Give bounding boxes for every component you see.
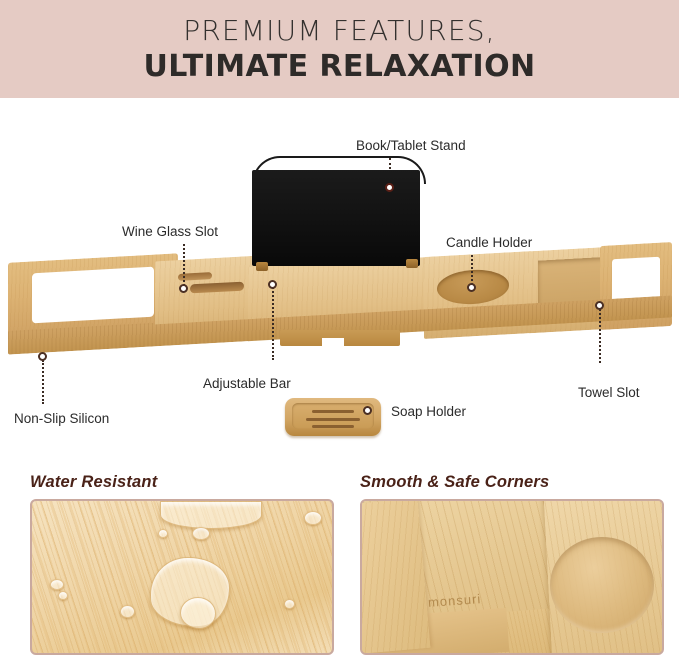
header-line-2: ULTIMATE RELAXATION [143,50,535,84]
header-banner: PREMIUM FEATURES, ULTIMATE RELAXATION [0,0,679,98]
water-droplet-1 [192,527,210,540]
tablet-stand-board [252,170,420,266]
candle-recess-photo [550,537,654,633]
soap-holder-groove-3 [312,425,354,428]
callout-leader-wine-glass-slot [183,244,185,286]
water-puddle-top [160,501,262,529]
left-arm-opening [32,267,154,324]
tablet-stand-foot-left [256,262,268,271]
callout-label-adjustable-bar: Adjustable Bar [203,376,291,391]
callout-dot-towel-slot [595,301,604,310]
water-droplet-6 [284,599,295,609]
soap-holder-groove-1 [312,410,354,413]
callout-leader-adjustable-bar [272,284,274,360]
panel-water-resistant: Water Resistant [22,463,340,662]
water-droplet-4 [50,579,64,590]
bathtub-tray-illustration [0,98,679,463]
callout-dot-soap-holder [363,406,372,415]
callout-label-wine-glass-slot: Wine Glass Slot [122,224,218,239]
callout-label-soap-holder: Soap Holder [391,404,466,419]
feature-panels: Water Resistant Smooth & Safe Corners mo… [0,463,679,662]
water-droplet-3 [120,605,135,618]
panel-heading-smooth-safe-corners: Smooth & Safe Corners [360,473,549,492]
product-diagram: Book/Tablet Stand Wine Glass Slot Candle… [0,98,679,463]
panel-heading-water-resistant: Water Resistant [30,473,157,492]
water-droplet-5 [58,591,68,600]
tablet-stand-foot-right [406,259,418,268]
callout-dot-book-tablet-stand [385,183,394,192]
callout-leader-towel-slot [599,309,601,363]
callout-dot-candle-holder [467,283,476,292]
callout-label-candle-holder: Candle Holder [446,235,532,250]
soap-holder-groove-2 [306,418,360,421]
callout-dot-non-slip-silicon [38,352,47,361]
header-line-1: PREMIUM FEATURES, [183,15,496,46]
water-droplet-7 [304,511,322,525]
adjustable-bar-notch [322,338,344,348]
callout-dot-wine-glass-slot [179,284,188,293]
water-droplet-2 [158,529,168,538]
panel-smooth-safe-corners: Smooth & Safe Corners monsuri [352,463,670,662]
callout-label-non-slip-silicon: Non-Slip Silicon [14,411,109,426]
water-puddle-small [180,597,216,629]
callout-leader-non-slip-silicon [42,360,44,404]
photo-water-resistant [30,499,334,655]
callout-leader-candle-holder [471,255,473,285]
callout-dot-adjustable-bar [268,280,277,289]
callout-label-towel-slot: Towel Slot [578,385,640,400]
callout-label-book-tablet-stand: Book/Tablet Stand [356,138,466,153]
photo-smooth-safe-corners: monsuri [360,499,664,655]
